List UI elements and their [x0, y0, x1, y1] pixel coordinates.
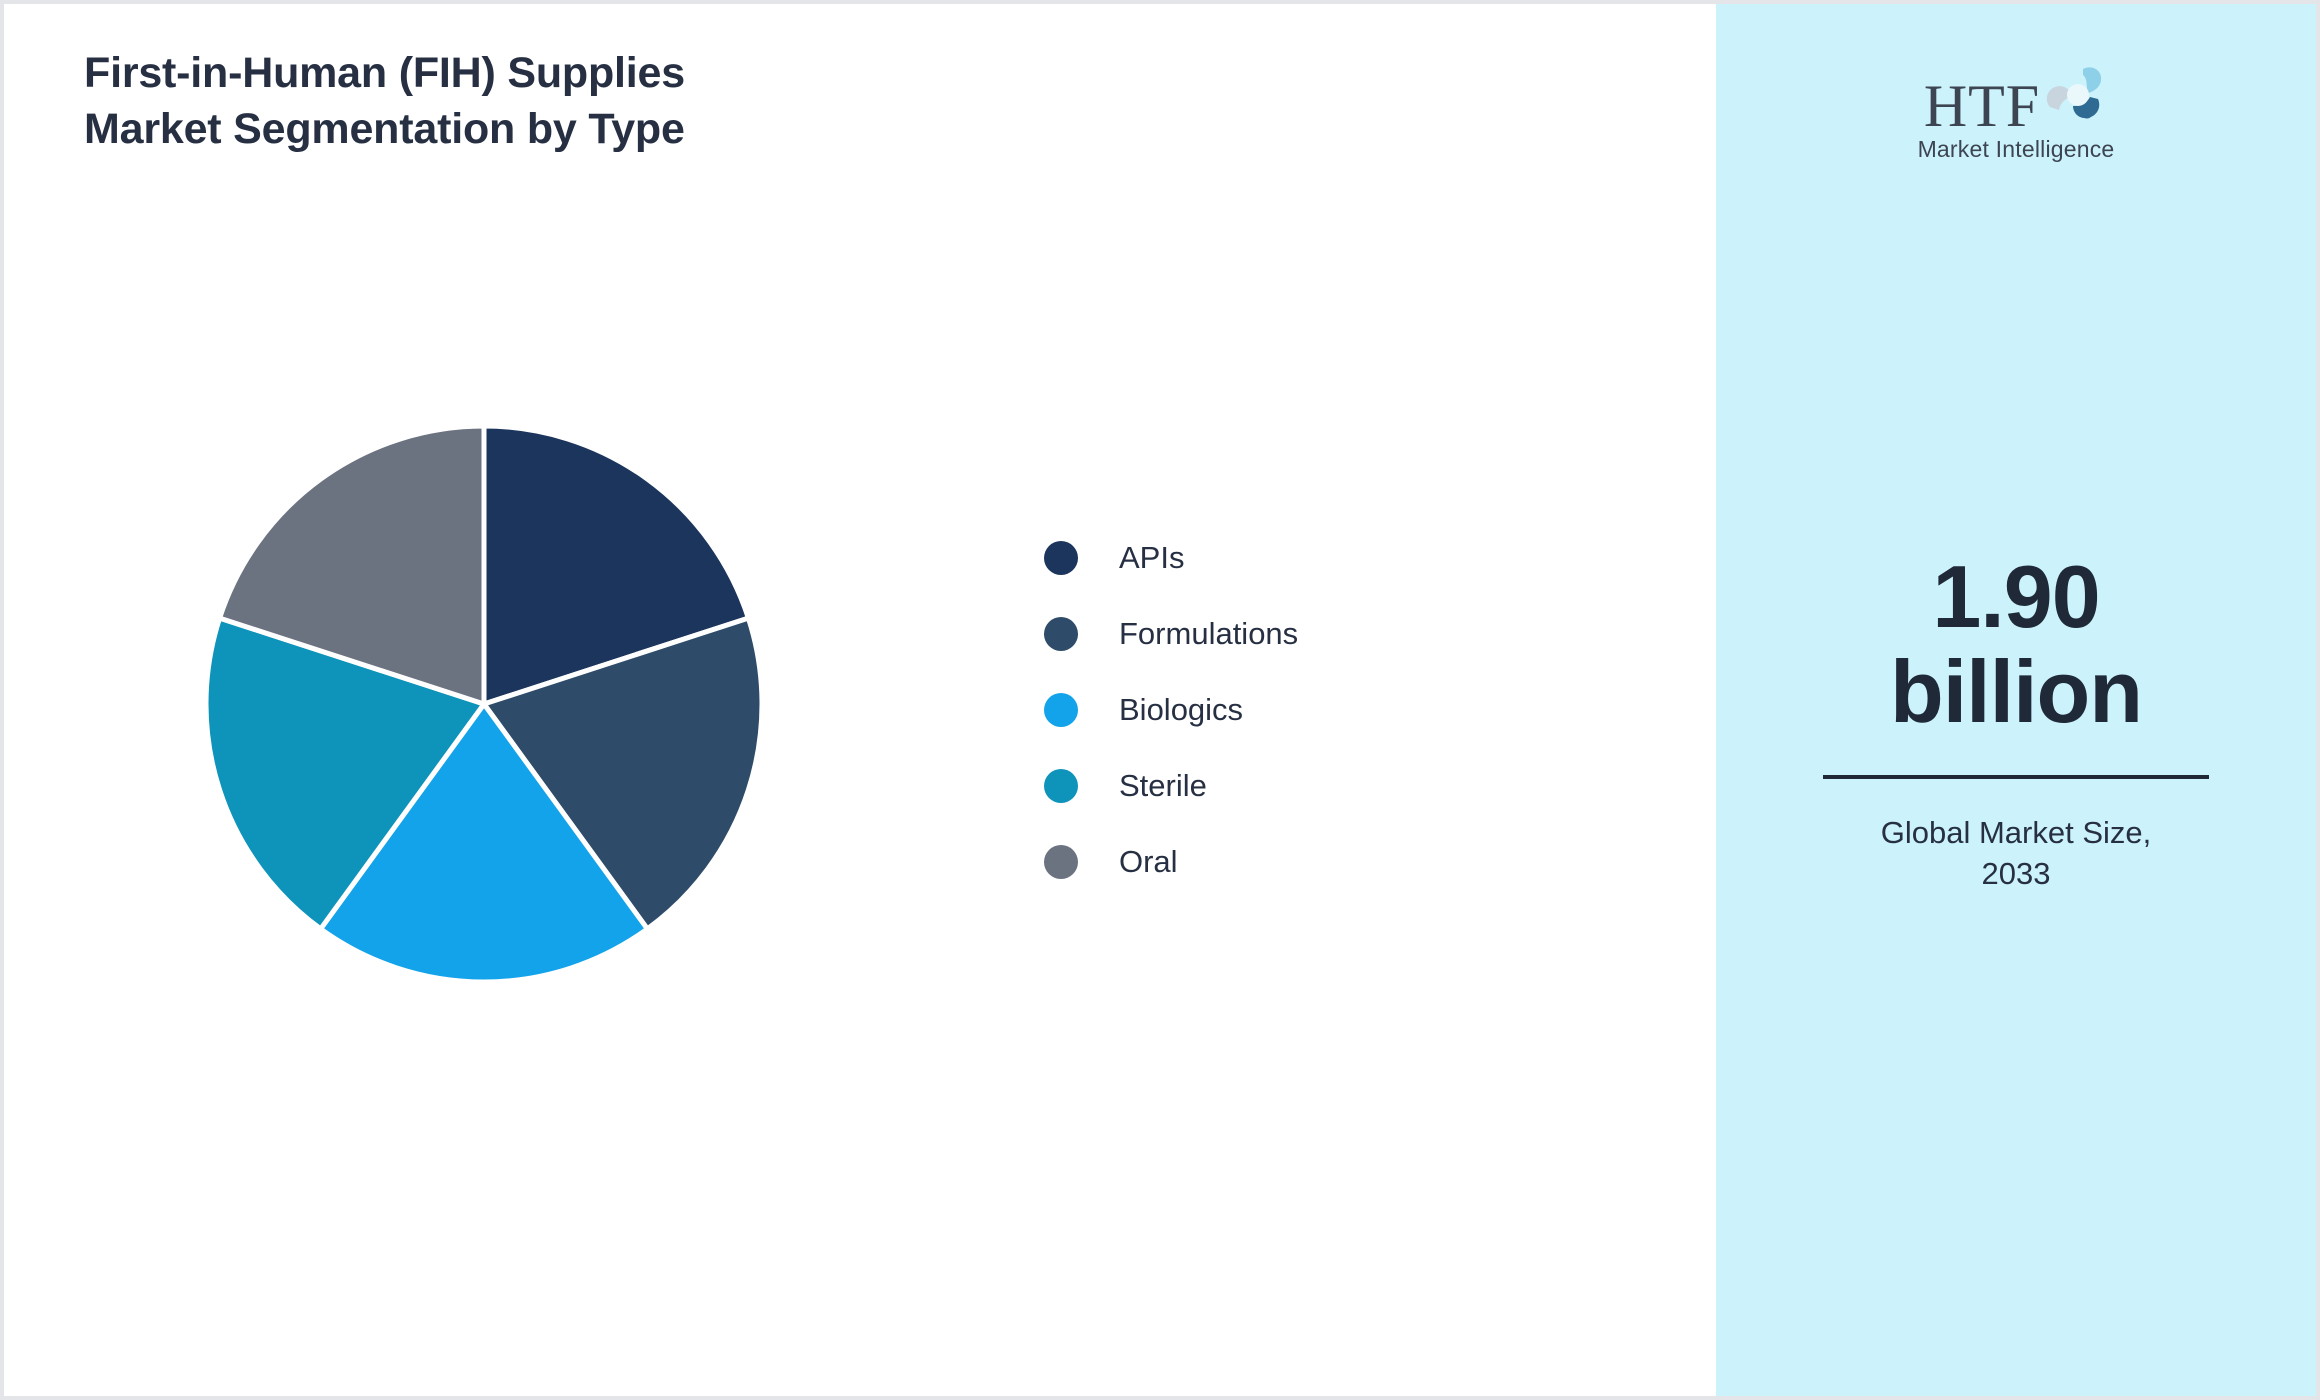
legend-item-label: Formulations — [1119, 616, 1298, 652]
legend-item-biologics[interactable]: Biologics — [1044, 672, 1464, 748]
stat-value-line-1: 1.90 — [1816, 549, 2216, 644]
page-title-line-1: First-in-Human (FIH) Supplies — [84, 46, 1184, 102]
legend-item-label: Sterile — [1119, 768, 1207, 804]
stat-caption-line-2: 2033 — [1816, 854, 2216, 895]
legend-swatch-icon — [1044, 769, 1078, 803]
side-panel: HTF — [1716, 4, 2316, 1396]
brand-logo-letters: HTF — [1924, 79, 2040, 134]
chart-legend: APIsFormulationsBiologicsSterileOral — [1044, 520, 1464, 900]
infographic-canvas: First-in-Human (FIH) Supplies Market Seg… — [0, 0, 2320, 1400]
stat-caption: Global Market Size, 2033 — [1816, 813, 2216, 895]
market-size-stat: 1.90 billion Global Market Size, 2033 — [1816, 549, 2216, 895]
brand-logo-subtitle: Market Intelligence — [1886, 136, 2146, 163]
legend-item-label: Oral — [1119, 844, 1178, 880]
page-title-line-2: Market Segmentation by Type — [84, 102, 1184, 158]
stat-divider — [1823, 775, 2209, 779]
legend-swatch-icon — [1044, 541, 1078, 575]
legend-swatch-icon — [1044, 693, 1078, 727]
chart-region: First-in-Human (FIH) Supplies Market Seg… — [4, 4, 1716, 1396]
legend-swatch-icon — [1044, 845, 1078, 879]
brand-logo-row: HTF — [1886, 62, 2146, 134]
pie-slice-group — [206, 426, 762, 982]
stat-value: 1.90 billion — [1816, 549, 2216, 739]
stat-caption-line-1: Global Market Size, — [1816, 813, 2216, 854]
pie-chart-svg — [194, 414, 774, 994]
legend-item-formulations[interactable]: Formulations — [1044, 596, 1464, 672]
stat-value-line-2: billion — [1816, 644, 2216, 739]
brand-logo[interactable]: HTF — [1886, 62, 2146, 163]
legend-item-sterile[interactable]: Sterile — [1044, 748, 1464, 824]
legend-item-label: Biologics — [1119, 692, 1243, 728]
legend-swatch-icon — [1044, 617, 1078, 651]
legend-item-label: APIs — [1119, 540, 1184, 576]
legend-item-oral[interactable]: Oral — [1044, 824, 1464, 900]
brand-logo-mark-icon — [2042, 63, 2108, 130]
pie-chart — [194, 414, 774, 994]
legend-item-apis[interactable]: APIs — [1044, 520, 1464, 596]
page-title: First-in-Human (FIH) Supplies Market Seg… — [84, 46, 1184, 158]
